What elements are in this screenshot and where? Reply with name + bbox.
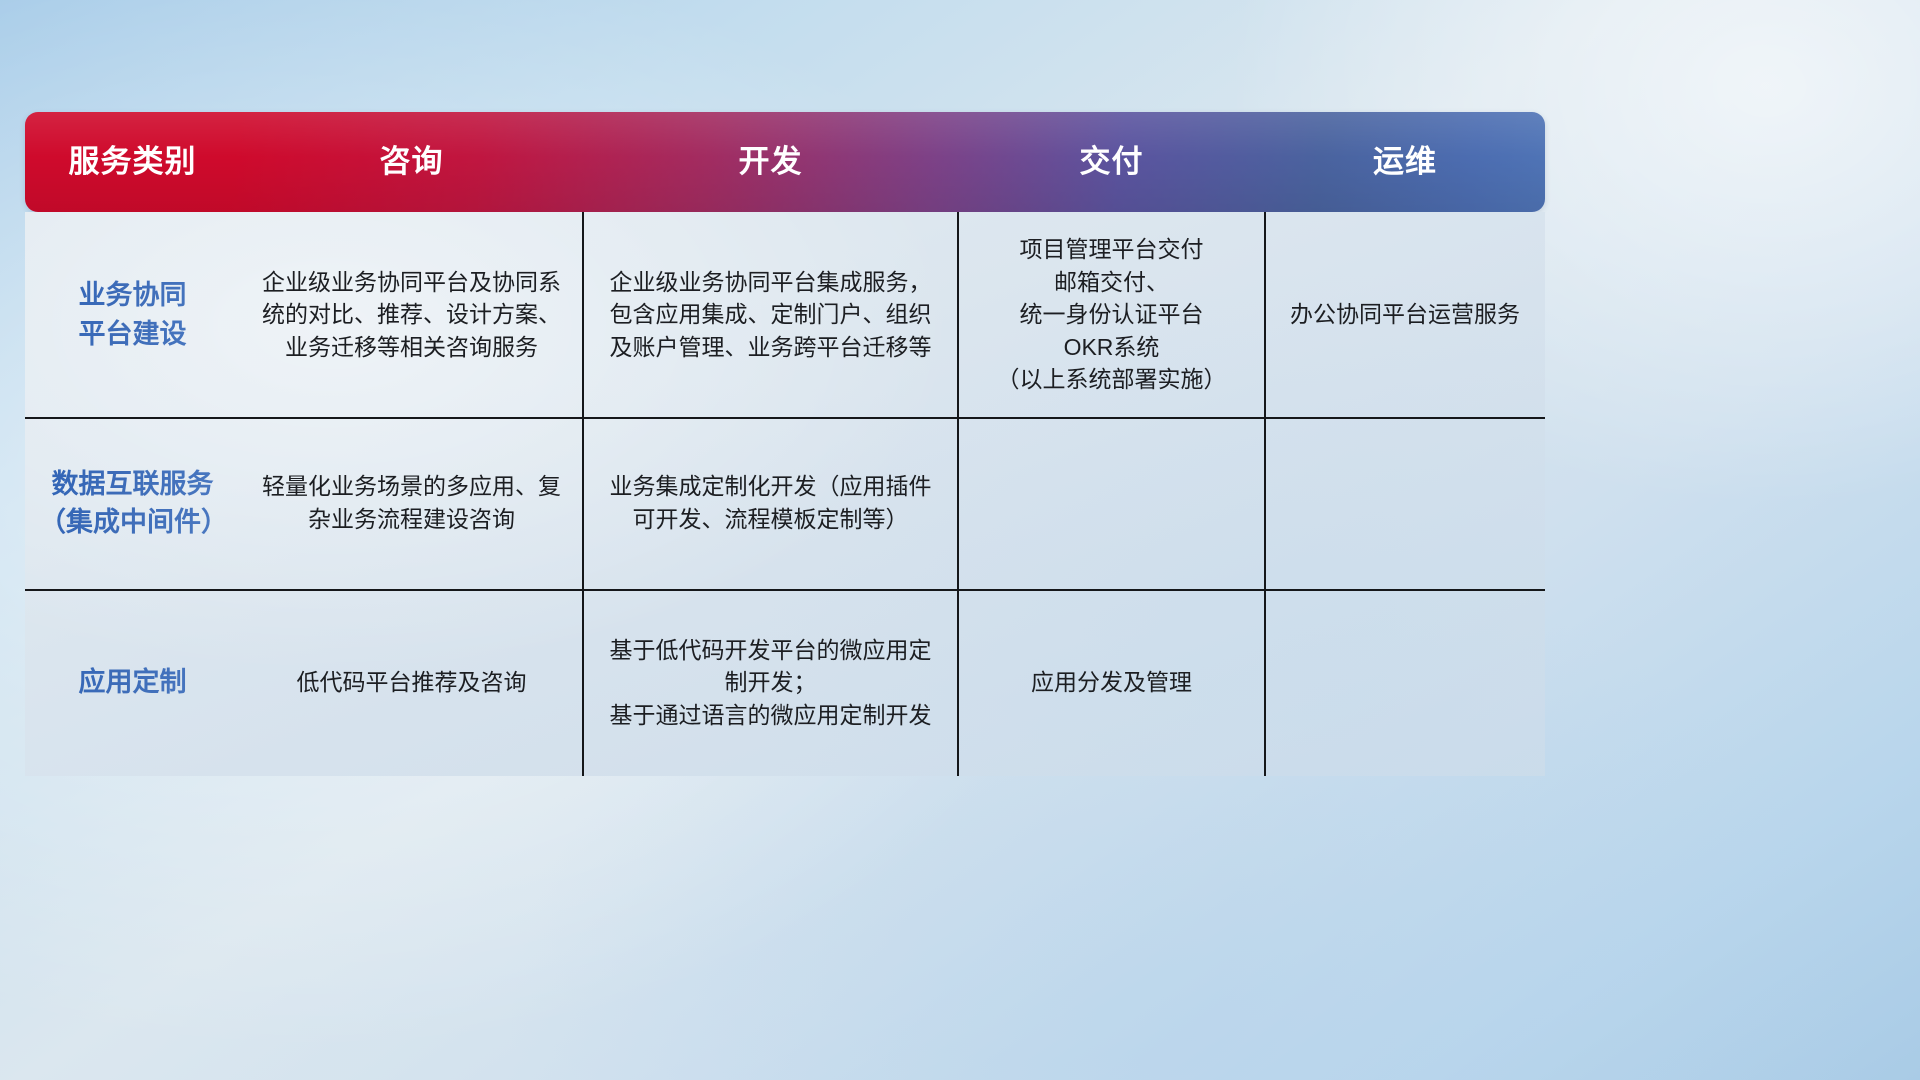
column-header-operations: 运维 xyxy=(1265,112,1545,212)
service-matrix-table: 服务类别 咨询 开发 交付 运维 业务协同 平台建设 企业级业务协同平台及协同系… xyxy=(25,112,1545,776)
cell-r3-operations xyxy=(1265,589,1545,776)
cell-r3-delivery: 应用分发及管理 xyxy=(958,589,1265,776)
table-row: 数据互联服务 （集成中间件） 轻量化业务场景的多应用、复 杂业务流程建设咨询 业… xyxy=(25,417,1545,589)
slide-canvas: 服务类别 咨询 开发 交付 运维 业务协同 平台建设 企业级业务协同平台及协同系… xyxy=(0,0,1920,1080)
cell-r3-consulting: 低代码平台推荐及咨询 xyxy=(240,589,583,776)
column-header-consulting: 咨询 xyxy=(240,112,583,212)
cell-r1-operations: 办公协同平台运营服务 xyxy=(1265,212,1545,417)
cell-r2-operations xyxy=(1265,417,1545,589)
column-header-development: 开发 xyxy=(583,112,958,212)
cell-r1-development: 企业级业务协同平台集成服务， 包含应用集成、定制门户、组织 及账户管理、业务跨平… xyxy=(583,212,958,417)
column-divider-development-delivery xyxy=(957,212,959,776)
row-label-data-interconnect: 数据互联服务 （集成中间件） xyxy=(25,417,240,589)
table-row: 应用定制 低代码平台推荐及咨询 基于低代码开发平台的微应用定 制开发； 基于通过… xyxy=(25,589,1545,776)
cell-r2-consulting: 轻量化业务场景的多应用、复 杂业务流程建设咨询 xyxy=(240,417,583,589)
column-header-service-category: 服务类别 xyxy=(25,112,240,212)
table-body: 业务协同 平台建设 企业级业务协同平台及协同系 统的对比、推荐、设计方案、 业务… xyxy=(25,212,1545,776)
cell-r2-development: 业务集成定制化开发（应用插件 可开发、流程模板定制等） xyxy=(583,417,958,589)
column-header-delivery: 交付 xyxy=(958,112,1265,212)
row-label-business-collaboration: 业务协同 平台建设 xyxy=(25,212,240,417)
cell-r1-delivery: 项目管理平台交付 邮箱交付、 统一身份认证平台 OKR系统 （以上系统部署实施） xyxy=(958,212,1265,417)
column-divider-consulting-development xyxy=(582,212,584,776)
cell-r1-consulting: 企业级业务协同平台及协同系 统的对比、推荐、设计方案、 业务迁移等相关咨询服务 xyxy=(240,212,583,417)
column-divider-delivery-operations xyxy=(1264,212,1266,776)
cell-r3-development: 基于低代码开发平台的微应用定 制开发； 基于通过语言的微应用定制开发 xyxy=(583,589,958,776)
table-row: 业务协同 平台建设 企业级业务协同平台及协同系 统的对比、推荐、设计方案、 业务… xyxy=(25,212,1545,417)
row-label-app-customization: 应用定制 xyxy=(25,589,240,776)
cell-r2-delivery xyxy=(958,417,1265,589)
table-header-row: 服务类别 咨询 开发 交付 运维 xyxy=(25,112,1545,212)
